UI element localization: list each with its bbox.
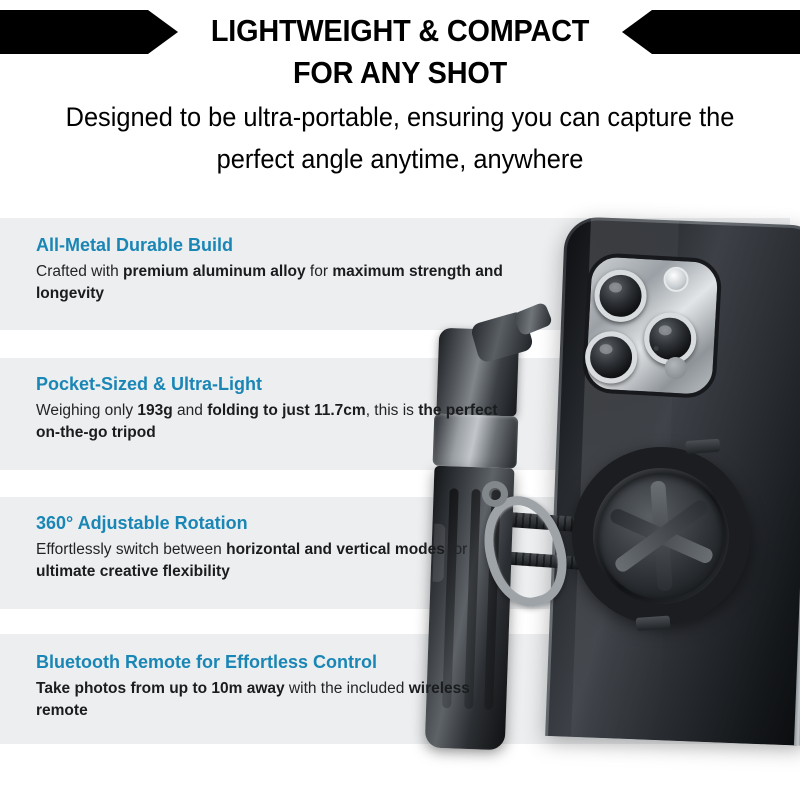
ring-locking-tab <box>636 616 671 631</box>
feature-body: Crafted with premium aluminum alloy for … <box>36 261 506 305</box>
page-title-line-1: LIGHTWEIGHT & COMPACT <box>28 14 772 48</box>
camera-lens <box>584 330 639 385</box>
feature-item-pocket-sized-ultra-light: Pocket-Sized & Ultra-Light Weighing only… <box>36 373 506 444</box>
ring-locking-tab <box>685 439 720 454</box>
triple-camera-module <box>581 252 723 399</box>
lidar-sensor-icon <box>664 356 687 379</box>
feature-body: Take photos from up to 10m away with the… <box>36 678 506 722</box>
feature-title: Pocket-Sized & Ultra-Light <box>36 373 506 395</box>
feature-item-all-metal-durable-build: All-Metal Durable Build Crafted with pre… <box>36 234 506 305</box>
magsafe-ring-mount <box>566 441 756 631</box>
camera-lens <box>593 268 648 323</box>
header-banner: LIGHTWEIGHT & COMPACT FOR ANY SHOT Desig… <box>0 0 800 190</box>
feature-body: Effortlessly switch between horizontal a… <box>36 539 506 583</box>
feature-item-bluetooth-remote: Bluetooth Remote for Effortless Control … <box>36 651 506 722</box>
feature-title: 360° Adjustable Rotation <box>36 512 506 534</box>
feature-body: Weighing only 193g and folding to just 1… <box>36 400 506 444</box>
image-bottom-fade <box>400 748 800 800</box>
feature-title: Bluetooth Remote for Effortless Control <box>36 651 506 673</box>
feature-item-360-adjustable-rotation: 360° Adjustable Rotation Effortlessly sw… <box>36 512 506 583</box>
pivot-lock-knob <box>513 302 554 337</box>
page-title-line-2: FOR ANY SHOT <box>28 56 772 90</box>
camera-flash-icon <box>663 266 689 292</box>
feature-title: All-Metal Durable Build <box>36 234 506 256</box>
page-subtitle: Designed to be ultra-portable, ensuring … <box>24 96 776 180</box>
